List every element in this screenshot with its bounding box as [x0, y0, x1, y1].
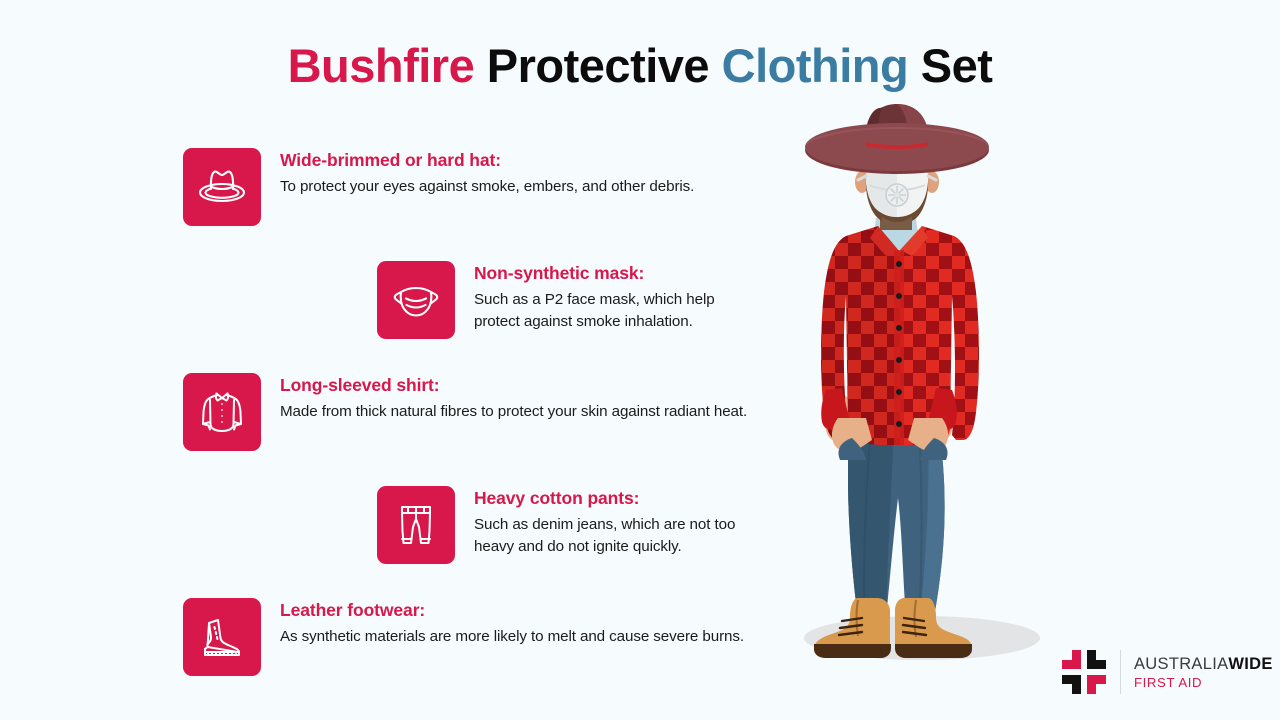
- face-mask-icon: [377, 261, 455, 339]
- feature-heading-mask: Non-synthetic mask:: [474, 264, 760, 283]
- feature-item-footwear: Leather footwear: As synthetic materials…: [183, 598, 744, 676]
- feature-body-mask: Such as a P2 face mask, which help prote…: [474, 289, 760, 332]
- feature-heading-footwear: Leather footwear:: [280, 601, 744, 620]
- feature-item-hat: Wide-brimmed or hard hat: To protect you…: [183, 148, 694, 226]
- logo-wordmark: AUSTRALIAWIDE FIRST AID: [1134, 653, 1273, 691]
- feature-text-shirt: Long-sleeved shirt: Made from thick natu…: [280, 373, 747, 423]
- feature-text-mask: Non-synthetic mask: Such as a P2 face ma…: [474, 261, 760, 333]
- pants-icon: [377, 486, 455, 564]
- title-part-set: Set: [921, 39, 993, 92]
- feature-heading-pants: Heavy cotton pants:: [474, 489, 760, 508]
- feature-body-shirt: Made from thick natural fibres to protec…: [280, 401, 747, 423]
- feature-item-mask: Non-synthetic mask: Such as a P2 face ma…: [377, 261, 760, 339]
- feature-body-hat: To protect your eyes against smoke, embe…: [280, 176, 694, 198]
- feature-text-pants: Heavy cotton pants: Such as denim jeans,…: [474, 486, 760, 558]
- leather-boot-icon: [183, 598, 261, 676]
- long-sleeved-shirt-icon: [183, 373, 261, 451]
- logo-text-australia: AUSTRALIA: [1134, 655, 1228, 673]
- australia-wide-first-aid-logo[interactable]: AUSTRALIAWIDE FIRST AID: [1060, 648, 1273, 696]
- fedora-hat-icon: [183, 148, 261, 226]
- plaid-shirt: [821, 226, 979, 445]
- feature-text-hat: Wide-brimmed or hard hat: To protect you…: [280, 148, 694, 198]
- feature-text-footwear: Leather footwear: As synthetic materials…: [280, 598, 744, 648]
- wide-brim-hat: [805, 104, 989, 174]
- feature-body-footwear: As synthetic materials are more likely t…: [280, 626, 744, 648]
- logo-text-first-aid: FIRST AID: [1134, 675, 1273, 691]
- feature-body-pants: Such as denim jeans, which are not too h…: [474, 514, 760, 557]
- feature-list: Wide-brimmed or hard hat: To protect you…: [0, 0, 760, 720]
- feature-item-shirt: Long-sleeved shirt: Made from thick natu…: [183, 373, 747, 451]
- man-in-bushfire-protective-clothing-illustration: [770, 100, 1100, 680]
- logo-text-wide: WIDE: [1228, 655, 1272, 673]
- cross-logo-icon: [1060, 648, 1108, 696]
- logo-divider: [1120, 650, 1121, 694]
- feature-heading-shirt: Long-sleeved shirt:: [280, 376, 747, 395]
- p2-face-mask: [858, 168, 936, 217]
- feature-heading-hat: Wide-brimmed or hard hat:: [280, 151, 694, 170]
- feature-item-pants: Heavy cotton pants: Such as denim jeans,…: [377, 486, 760, 564]
